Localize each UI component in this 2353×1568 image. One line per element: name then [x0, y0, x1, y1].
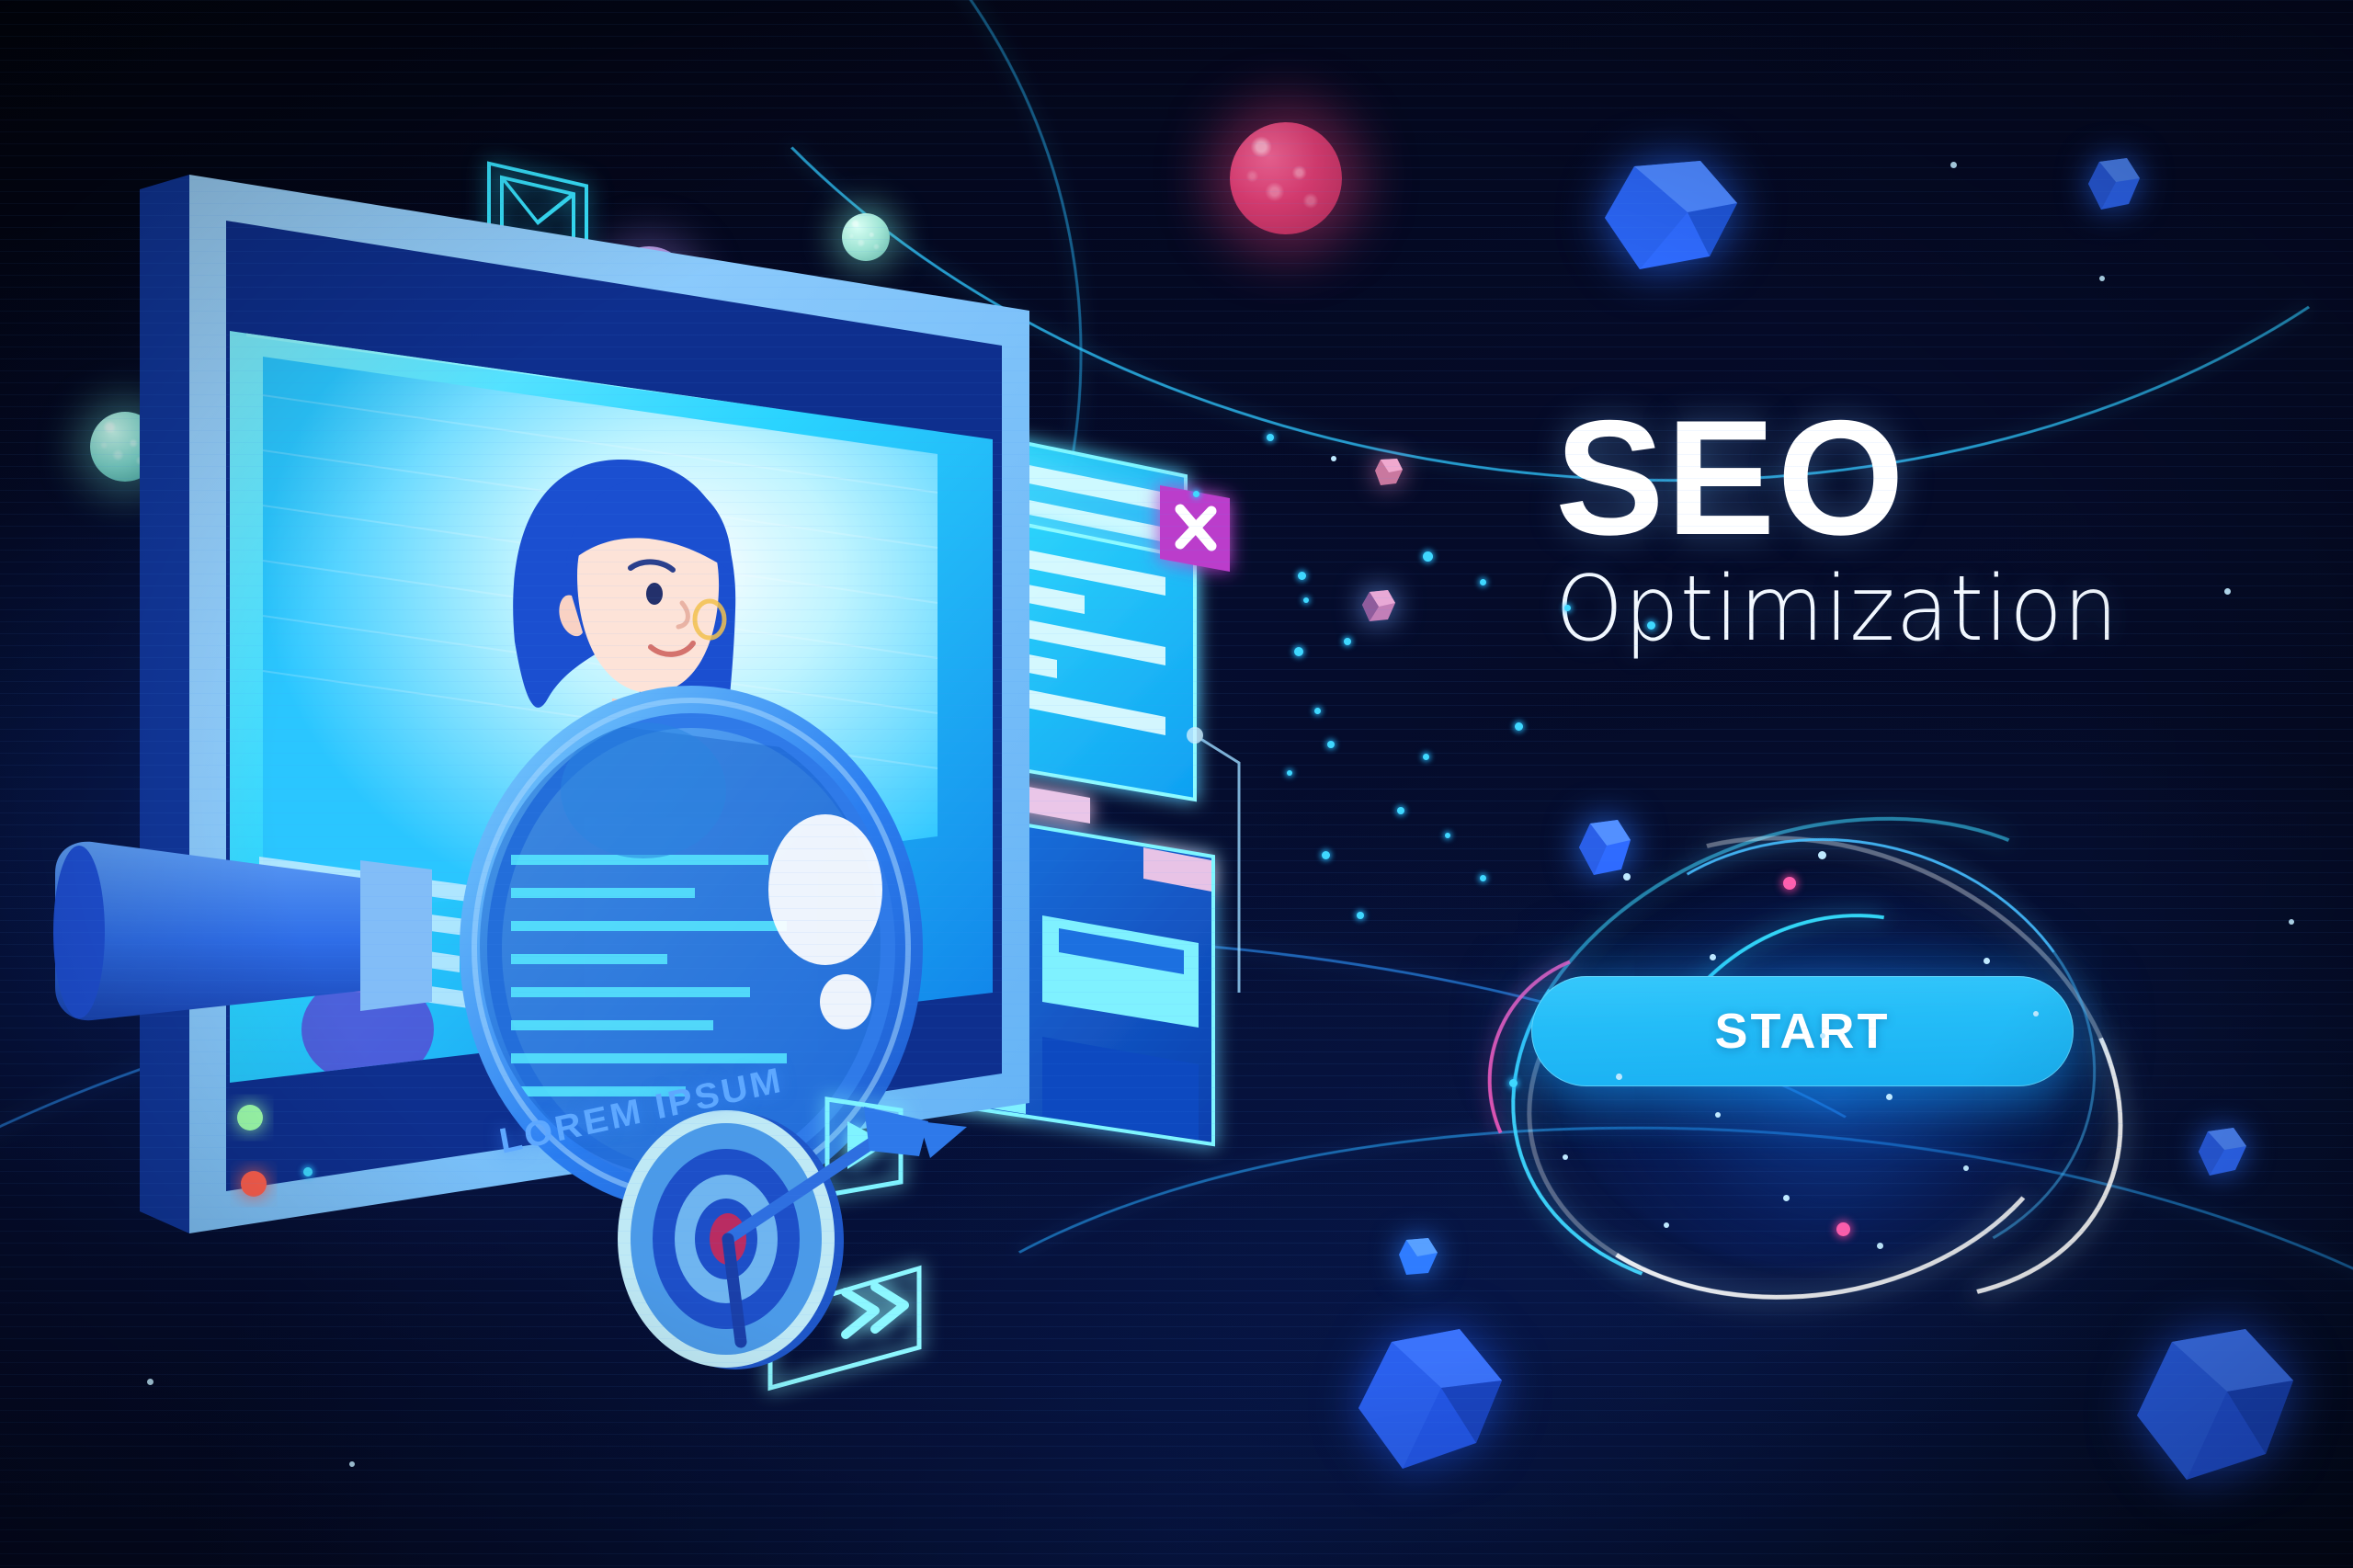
crystal-blue-tiny-left: [1397, 1236, 1439, 1278]
crystal-blue-top: [1599, 161, 1746, 290]
particle: [1564, 605, 1571, 611]
particle: [1515, 722, 1523, 731]
particle: [1423, 754, 1429, 760]
particle: [1877, 1243, 1883, 1249]
particle: [1294, 647, 1303, 656]
headline-block: SEO Optimization: [1555, 403, 2290, 657]
particle: [2033, 1011, 2039, 1017]
particle: [1193, 491, 1199, 497]
particle: [2099, 276, 2105, 281]
particle: [1298, 572, 1306, 580]
particle: [1563, 1154, 1568, 1160]
crystal-blue-right: [2128, 1325, 2302, 1491]
particle: [1303, 597, 1309, 603]
page-title: SEO: [1555, 403, 2290, 553]
particle: [2224, 588, 2231, 595]
page-subtitle: Optimization: [1555, 562, 2261, 657]
particle: [1783, 877, 1796, 890]
particle: [1783, 1195, 1790, 1201]
particle: [1327, 741, 1335, 748]
particle: [1984, 958, 1990, 964]
particle: [1397, 807, 1404, 814]
crystal-blue-small-lower-right: [2197, 1126, 2248, 1179]
particle: [303, 1167, 313, 1176]
start-button[interactable]: START: [1531, 976, 2074, 1086]
particle: [1480, 875, 1486, 881]
particle: [1480, 579, 1486, 585]
particle: [1818, 851, 1826, 859]
particle: [1647, 621, 1655, 630]
particle: [1616, 1074, 1622, 1080]
particle: [349, 1461, 355, 1467]
particle: [1963, 1165, 1969, 1171]
particle: [1509, 1079, 1518, 1087]
particle: [1331, 456, 1336, 461]
lens-highlight-small: [820, 974, 871, 1029]
particle: [1820, 1033, 1825, 1039]
particle: [1344, 638, 1351, 645]
lens-highlight-large: [768, 814, 882, 965]
particle: [147, 1379, 153, 1385]
particle: [1357, 912, 1364, 919]
particle: [2289, 919, 2294, 925]
particle: [1314, 708, 1321, 714]
particle: [1287, 770, 1292, 776]
particle: [1710, 954, 1716, 960]
particle: [1322, 851, 1330, 859]
particle: [1836, 1222, 1850, 1236]
close-x-badge-icon: [1160, 485, 1230, 572]
particle: [1664, 1222, 1669, 1228]
particle: [1423, 551, 1433, 562]
particle: [1950, 162, 1957, 168]
particle: [1886, 1094, 1893, 1100]
target-dartboard: [618, 1107, 967, 1369]
particle: [1623, 873, 1631, 881]
seo-illustration: [0, 64, 1379, 1443]
particle: [1267, 434, 1274, 441]
led-red: [241, 1171, 267, 1197]
particle: [1715, 1112, 1721, 1118]
cta-block: START: [1500, 812, 2171, 1327]
particle: [1445, 833, 1450, 838]
led-green: [237, 1105, 263, 1131]
crystal-blue-small-upper: [2086, 156, 2142, 213]
banner-stage: LOREM IPSUM SEO Optimization START: [0, 0, 2353, 1568]
